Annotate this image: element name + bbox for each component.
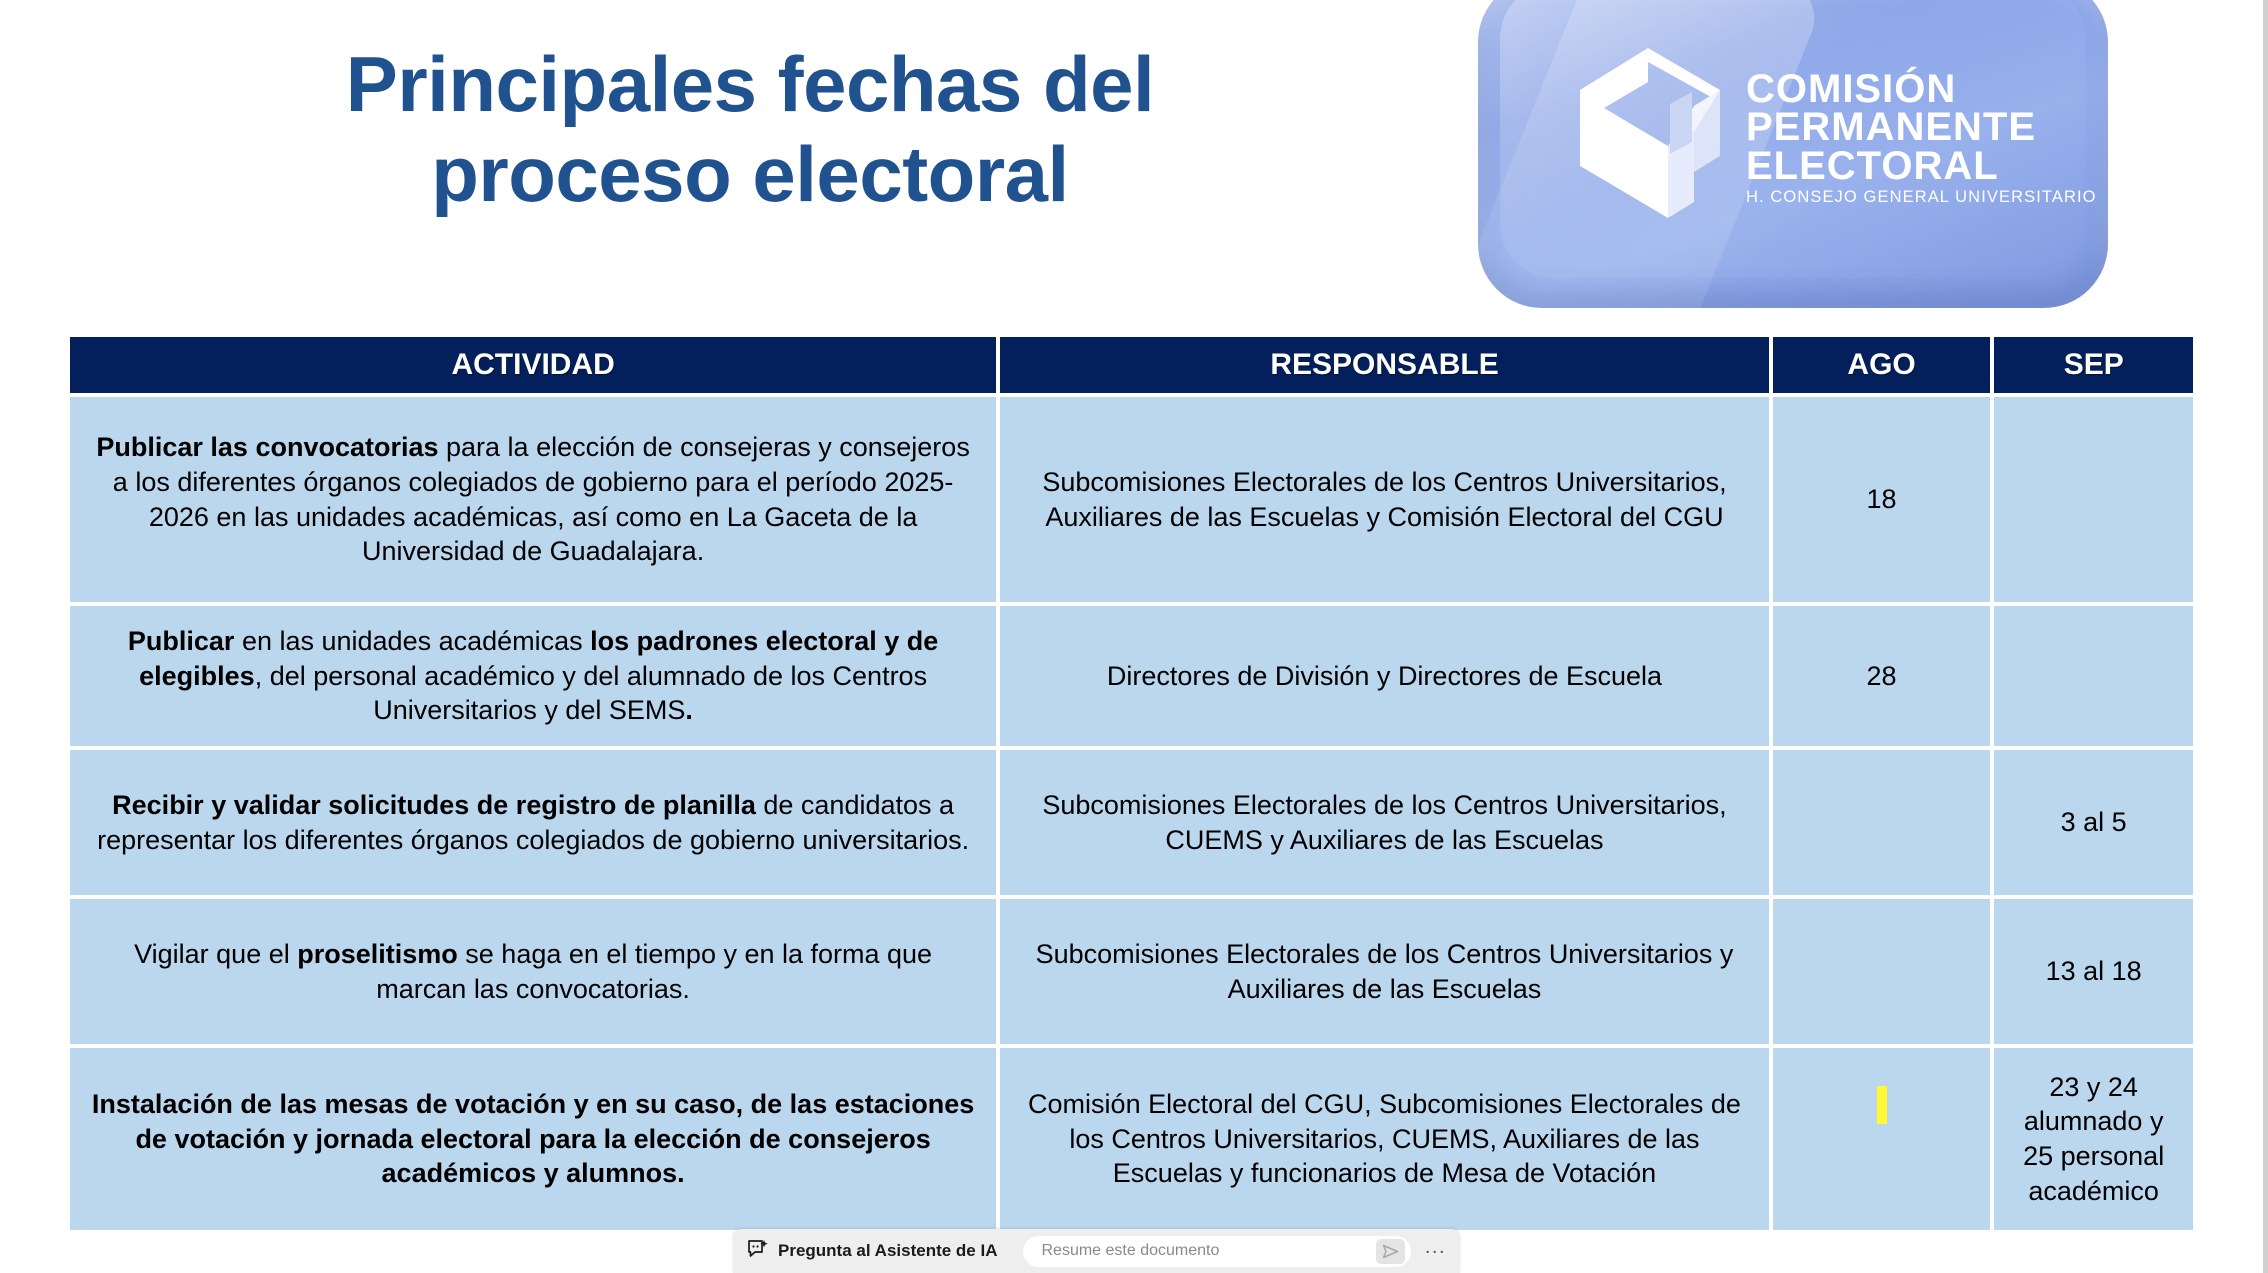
cell-ago: 28	[1773, 606, 1991, 746]
cell-sep: 23 y 24 alumnado y 25 personal académico	[1994, 1048, 2193, 1230]
actividad-text: Instalación de las mesas de votación y e…	[82, 1087, 984, 1191]
cell-actividad: Vigilar que el proselitismo se haga en e…	[70, 899, 996, 1044]
title-line-2: proceso electoral	[200, 130, 1300, 220]
cell-ago	[1773, 899, 1991, 1044]
send-paper-plane-icon[interactable]	[1376, 1239, 1405, 1264]
logo-line-1: COMISIÓN	[1746, 70, 2097, 108]
ballot-box-icon	[1570, 46, 1730, 226]
cell-ago	[1773, 750, 1991, 895]
text-cursor-highlight	[1877, 1086, 1887, 1124]
actividad-text: Recibir y validar solicitudes de registr…	[82, 788, 984, 857]
title-line-1: Principales fechas del	[200, 40, 1300, 130]
ai-chat-sparkle-icon	[747, 1239, 769, 1264]
cell-responsable: Subcomisiones Electorales de los Centros…	[1000, 899, 1769, 1044]
logo-wordmark: COMISIÓN PERMANENTE ELECTORAL H. CONSEJO…	[1746, 70, 2097, 206]
column-header-ago: AGO	[1773, 337, 1991, 393]
cell-responsable: Comisión Electoral del CGU, Subcomisione…	[1000, 1048, 1769, 1230]
logo-line-3: ELECTORAL	[1746, 147, 2097, 185]
actividad-text: Publicar en las unidades académicas los …	[82, 624, 984, 728]
cell-ago: 18	[1773, 397, 1991, 602]
actividad-text: Vigilar que el proselitismo se haga en e…	[82, 937, 984, 1006]
ellipsis-icon[interactable]: ...	[1425, 1242, 1446, 1260]
schedule-table: ACTIVIDAD RESPONSABLE AGO SEP Publicar l…	[70, 337, 2193, 1230]
cell-sep	[1994, 397, 2193, 602]
slide-canvas: Principales fechas del proceso electoral…	[0, 0, 2268, 1273]
cell-responsable: Subcomisiones Electorales de los Centros…	[1000, 397, 1769, 602]
cell-actividad: Recibir y validar solicitudes de registr…	[70, 750, 996, 895]
cell-ago	[1773, 1048, 1991, 1230]
column-header-sep: SEP	[1994, 337, 2193, 393]
table-row: Recibir y validar solicitudes de registr…	[70, 750, 2193, 895]
cell-responsable: Directores de División y Directores de E…	[1000, 606, 1769, 746]
logo: COMISIÓN PERMANENTE ELECTORAL H. CONSEJO…	[1478, 0, 2108, 308]
cell-actividad: Publicar en las unidades académicas los …	[70, 606, 996, 746]
table-row: Vigilar que el proselitismo se haga en e…	[70, 899, 2193, 1044]
column-header-responsable: RESPONSABLE	[1000, 337, 1769, 393]
cell-actividad: Instalación de las mesas de votación y e…	[70, 1048, 996, 1230]
vertical-scrollbar[interactable]	[2263, 0, 2268, 1273]
table-row: Instalación de las mesas de votación y e…	[70, 1048, 2193, 1230]
ai-assistant-label-text: Pregunta al Asistente de IA	[778, 1241, 997, 1261]
ai-prompt-input[interactable]	[1041, 1242, 1375, 1260]
column-header-actividad: ACTIVIDAD	[70, 337, 996, 393]
cell-actividad: Publicar las convocatorias para la elecc…	[70, 397, 996, 602]
cell-responsable: Subcomisiones Electorales de los Centros…	[1000, 750, 1769, 895]
page-title: Principales fechas del proceso electoral	[200, 40, 1300, 219]
table-row: Publicar las convocatorias para la elecc…	[70, 397, 2193, 602]
cell-sep: 13 al 18	[1994, 899, 2193, 1044]
logo-line-4: H. CONSEJO GENERAL UNIVERSITARIO	[1746, 190, 2097, 206]
table-header-row: ACTIVIDAD RESPONSABLE AGO SEP	[70, 337, 2193, 393]
ai-assistant-bar[interactable]: Pregunta al Asistente de IA ...	[733, 1229, 1460, 1273]
logo-line-2: PERMANENTE	[1746, 108, 2097, 146]
actividad-text: Publicar las convocatorias para la elecc…	[82, 430, 984, 568]
ai-input-container[interactable]	[1023, 1236, 1410, 1267]
cell-sep	[1994, 606, 2193, 746]
table-row: Publicar en las unidades académicas los …	[70, 606, 2193, 746]
cell-sep: 3 al 5	[1994, 750, 2193, 895]
ai-assistant-label: Pregunta al Asistente de IA	[747, 1239, 997, 1264]
